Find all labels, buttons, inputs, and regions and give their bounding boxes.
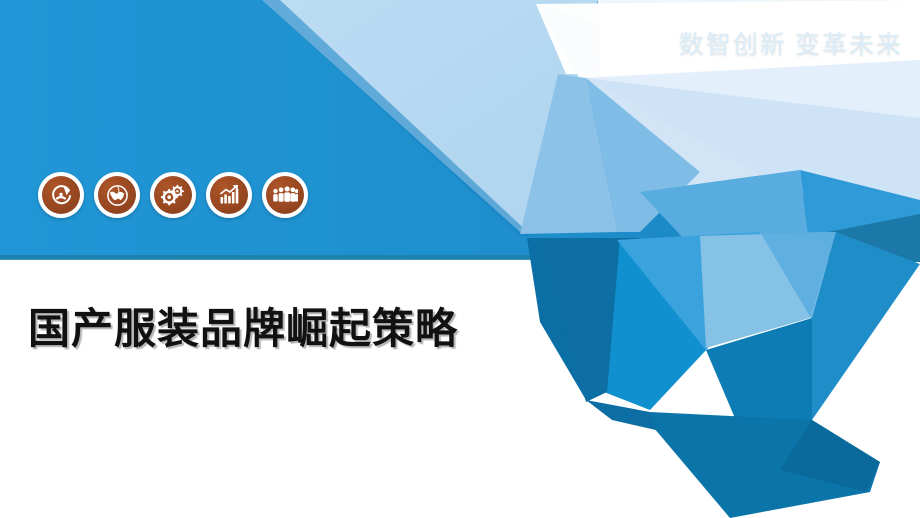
page-title: 国产服装品牌崛起策略 — [28, 295, 458, 356]
icon-badge-team-people[interactable] — [262, 172, 308, 218]
bar-chart-growth-icon — [210, 176, 248, 214]
polygon-lower-rightdeep — [812, 232, 920, 420]
background-polygon-art — [0, 0, 920, 518]
icon-badge-gears[interactable] — [150, 172, 196, 218]
icon-badge-refresh-growth[interactable] — [38, 172, 84, 218]
icon-strip — [38, 172, 308, 218]
header-tagline: 数智创新 变革未来 — [679, 25, 903, 61]
team-people-icon — [266, 176, 304, 214]
globe-icon — [98, 176, 136, 214]
refresh-growth-icon — [42, 176, 80, 214]
icon-badge-bar-chart-growth[interactable] — [206, 172, 252, 218]
icon-badge-globe[interactable] — [94, 172, 140, 218]
gears-icon — [154, 176, 192, 214]
cover-slide: 数智创新 变革未来 — [0, 0, 920, 518]
